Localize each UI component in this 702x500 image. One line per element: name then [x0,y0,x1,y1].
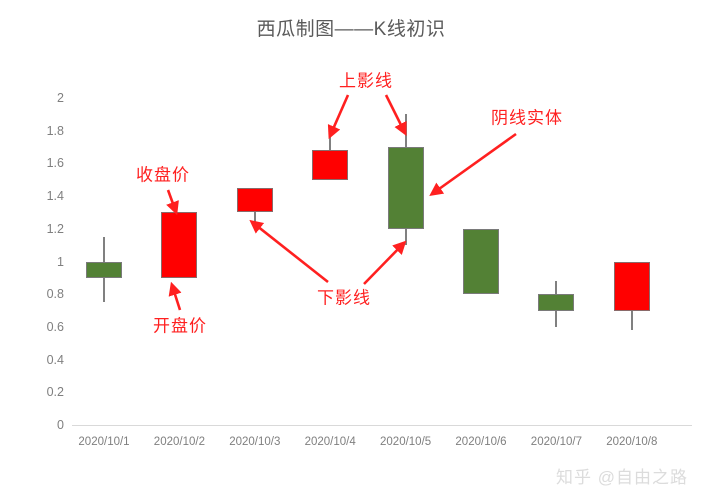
annotation-label-upper-shadow: 上影线 [339,67,393,92]
annotation-label-closing-price: 收盘价 [136,161,190,186]
candle-body [312,150,348,179]
x-tick-label: 2020/10/4 [305,436,356,448]
x-tick-label: 2020/10/1 [78,436,129,448]
x-tick-label: 2020/10/8 [606,436,657,448]
x-tick-label: 2020/10/2 [154,436,205,448]
candle-body [538,294,574,310]
candle-body [463,229,499,294]
plot-area: 2020/10/12020/10/22020/10/32020/10/42020… [0,0,702,500]
x-axis-line [72,425,692,426]
candle-body [388,147,424,229]
x-tick-label: 2020/10/6 [455,436,506,448]
x-tick-label: 2020/10/3 [229,436,280,448]
candlestick-chart: 西瓜制图——K线初识 00.20.40.60.811.21.41.61.82 2… [0,0,702,500]
annotation-label-bearish-body: 阴线实体 [491,104,563,129]
x-tick-label: 2020/10/7 [531,436,582,448]
candle-body [86,262,122,278]
annotation-label-lower-shadow: 下影线 [317,284,371,309]
candle-body [237,188,273,213]
candle-body [614,262,650,311]
candle-body [161,212,197,277]
x-tick-label: 2020/10/5 [380,436,431,448]
watermark: 知乎 @自由之路 [556,463,688,488]
annotation-label-opening-price: 开盘价 [153,312,207,337]
